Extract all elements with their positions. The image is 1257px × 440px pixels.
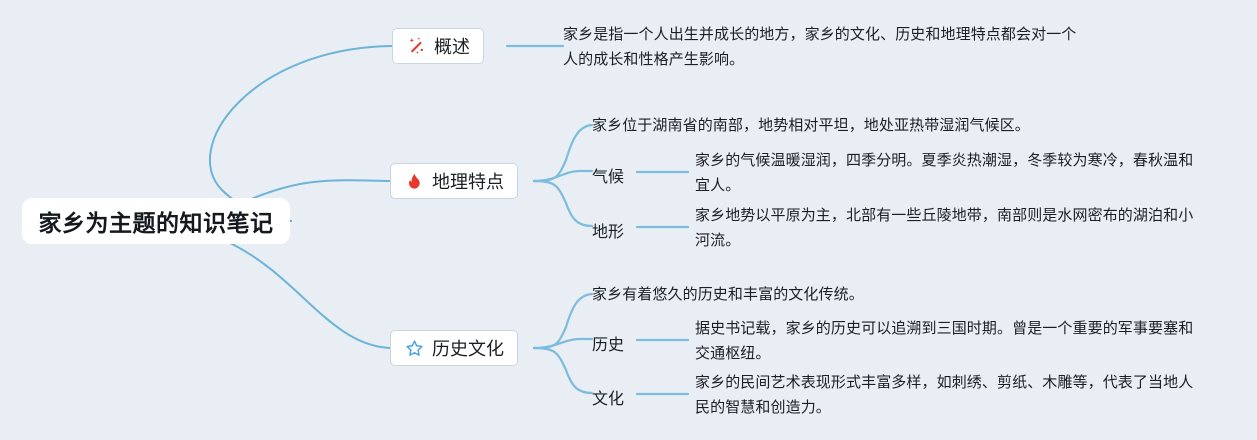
flame-icon bbox=[404, 171, 424, 191]
root-node-label: 家乡为主题的知识笔记 bbox=[39, 204, 274, 238]
sub-node-climate[interactable]: 气候 bbox=[592, 163, 624, 187]
edge-history-fan-mid bbox=[534, 339, 592, 348]
edge-geography-fan-mid bbox=[534, 171, 592, 181]
sub-node-history[interactable]: 历史 bbox=[592, 331, 624, 355]
branch-node-geography-label: 地理特点 bbox=[432, 168, 504, 194]
leaf-text-history: 据史书记载，家乡的历史可以追溯到三国时期。曾是一个重要的军事要塞和交通枢纽。 bbox=[695, 316, 1200, 366]
leaf-text-culture: 家乡的民间艺术表现形式丰富多样，如刺绣、剪纸、木雕等，代表了当地人民的智慧和创造… bbox=[695, 370, 1200, 420]
sub-node-terrain[interactable]: 地形 bbox=[592, 218, 624, 242]
sub-node-culture-label: 文化 bbox=[592, 391, 624, 408]
root-node[interactable]: 家乡为主题的知识笔记 bbox=[22, 198, 290, 244]
branch-node-history-culture[interactable]: 历史文化 bbox=[390, 330, 518, 366]
leaf-text-geography: 家乡位于湖南省的南部，地势相对平坦，地处亚热带湿润气候区。 bbox=[592, 113, 1072, 138]
leaf-text-terrain: 家乡地势以平原为主，北部有一些丘陵地带，南部则是水网密布的湖泊和小河流。 bbox=[695, 203, 1195, 253]
edge-history-fan-top bbox=[534, 294, 592, 348]
sub-node-culture[interactable]: 文化 bbox=[592, 385, 624, 409]
branch-node-history-culture-label: 历史文化 bbox=[432, 335, 504, 361]
edge-geography-fan-bot bbox=[534, 181, 592, 226]
sub-node-history-label: 历史 bbox=[592, 337, 624, 354]
edge-geography-fan-top bbox=[534, 125, 592, 181]
leaf-text-overview: 家乡是指一个人出生并成长的地方，家乡的文化、历史和地理特点都会对一个人的成长和性… bbox=[563, 22, 1083, 72]
star-outline-icon bbox=[404, 338, 424, 358]
mindmap-canvas: 家乡为主题的知识笔记 概述 家乡是指一个人出生并成长的地方，家乡的文化、历史和地… bbox=[0, 0, 1257, 440]
sparkle-wand-icon bbox=[406, 36, 426, 56]
branch-node-geography[interactable]: 地理特点 bbox=[390, 163, 518, 199]
sub-node-terrain-label: 地形 bbox=[592, 224, 624, 241]
edge-history-fan-bot bbox=[534, 348, 592, 393]
leaf-text-history-culture: 家乡有着悠久的历史和丰富的文化传统。 bbox=[592, 282, 1072, 307]
branch-node-overview[interactable]: 概述 bbox=[392, 28, 484, 64]
sub-node-climate-label: 气候 bbox=[592, 169, 624, 186]
branch-node-overview-label: 概述 bbox=[434, 33, 470, 59]
edge-root-to-overview bbox=[210, 46, 392, 221]
leaf-text-climate: 家乡的气候温暖湿润，四季分明。夏季炎热潮湿，冬季较为寒冷，春秋温和宜人。 bbox=[695, 148, 1195, 198]
